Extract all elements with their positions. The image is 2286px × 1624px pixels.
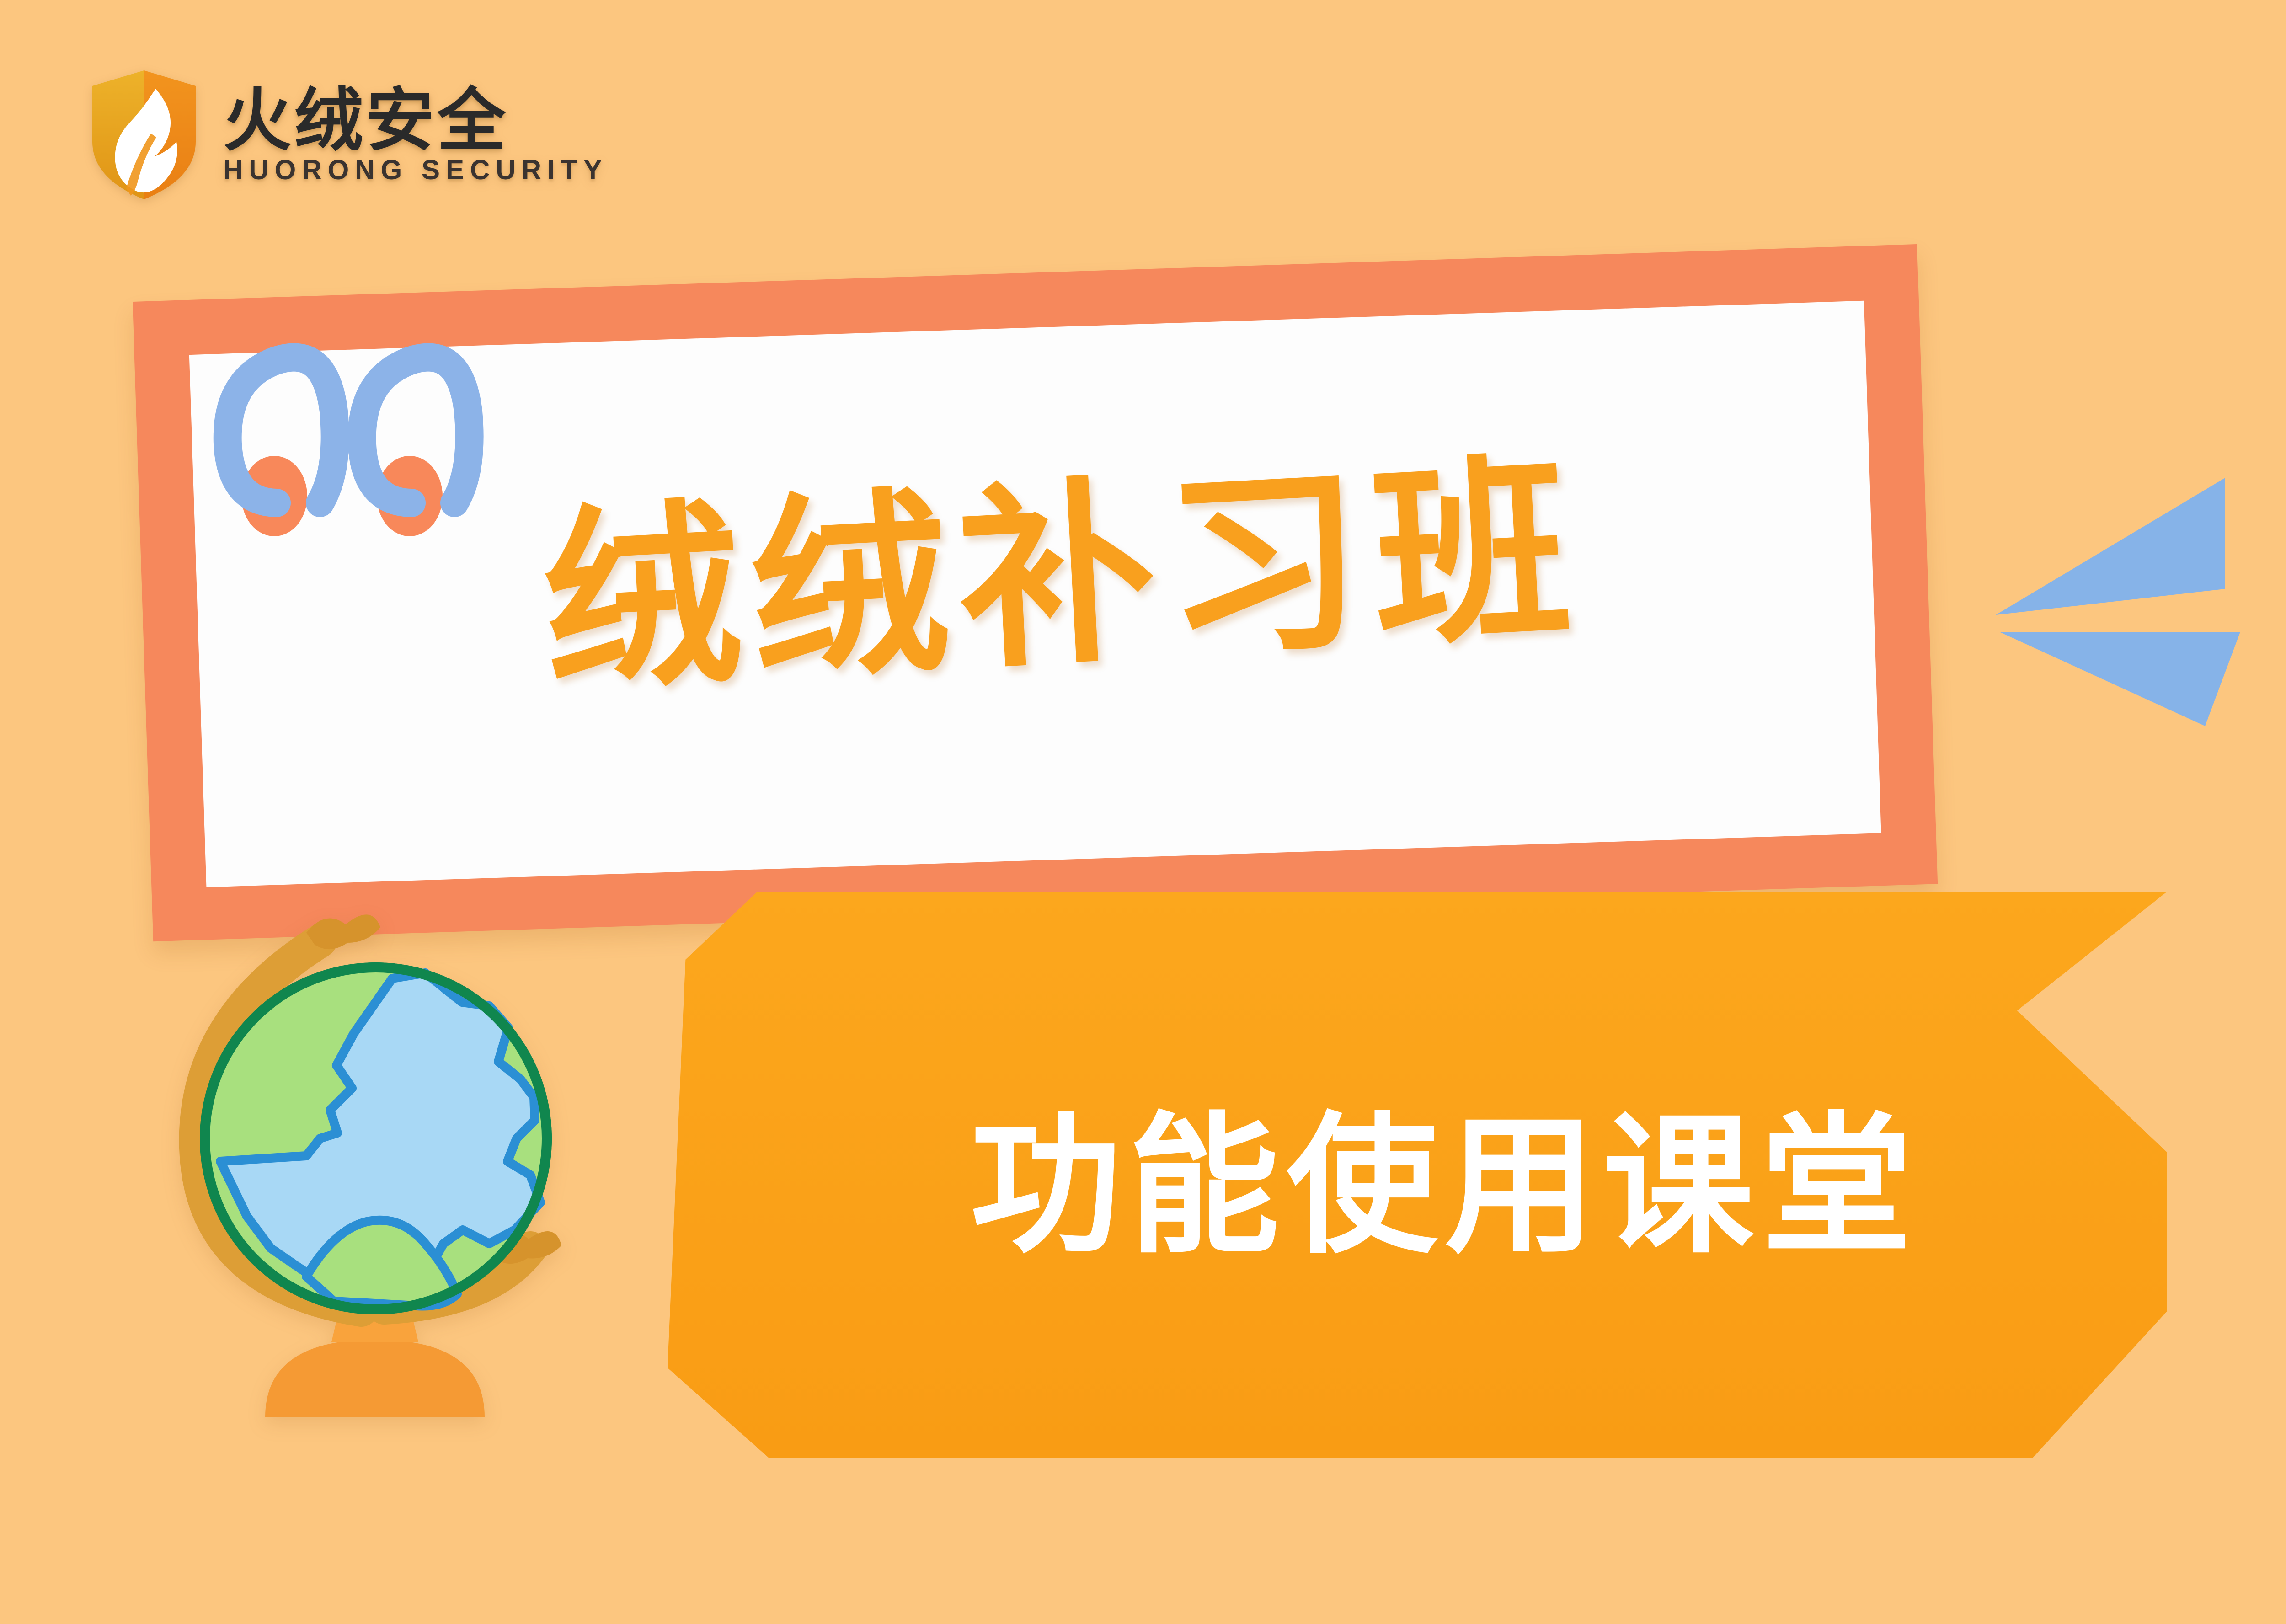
globe-stand-icon (169, 882, 581, 1445)
brand-text: 火绒安全 HUORONG SECURITY (223, 86, 608, 184)
brand-name-cn: 火绒安全 (223, 86, 608, 155)
brand-logo: 火绒安全 HUORONG SECURITY (87, 69, 608, 201)
brand-name-en: HUORONG SECURITY (223, 156, 608, 184)
paper-plane-arrow-left-icon (1991, 462, 2286, 727)
subtitle-text: 功能使用课堂 (668, 892, 2167, 1458)
shield-flame-icon (87, 69, 201, 201)
subtitle-banner: 功能使用课堂 (668, 892, 2167, 1458)
poster-canvas: 火绒安全 HUORONG SECURITY 绒绒补习班 功能使用课堂 (0, 0, 2286, 1624)
